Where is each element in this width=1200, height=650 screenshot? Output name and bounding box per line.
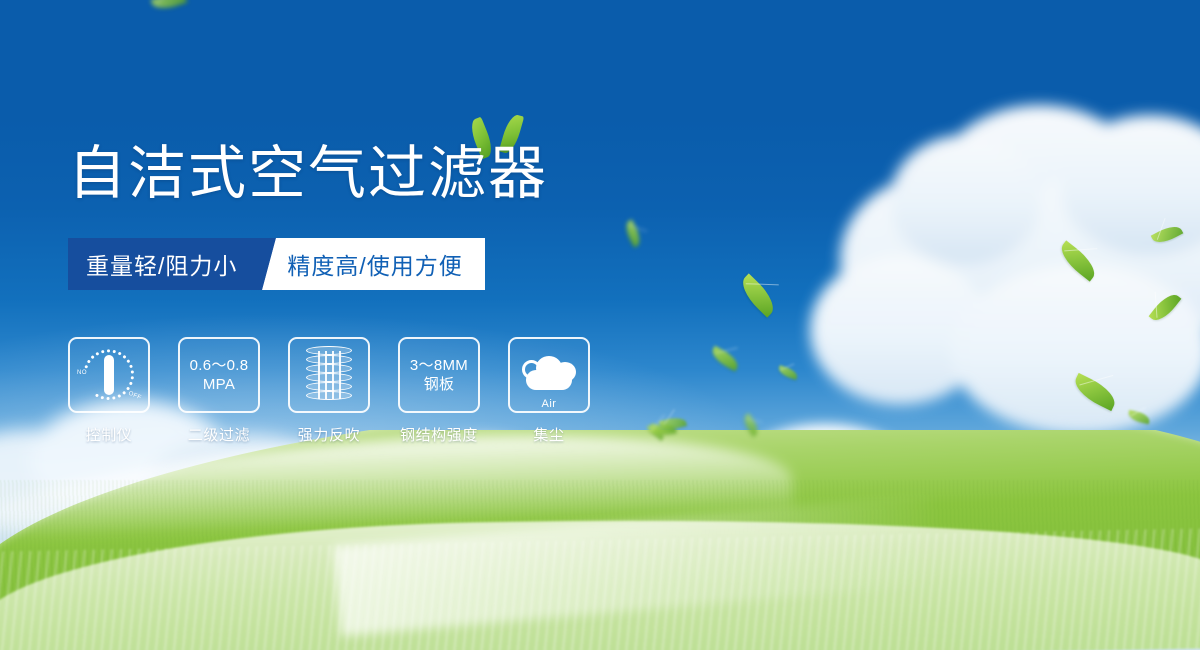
feature-icon-box: 3～8MM 钢板 [398, 337, 480, 413]
feature-label: 控制仪 [86, 424, 133, 445]
feature-item-blowback[interactable]: 强力反吹 [288, 337, 370, 445]
feature-icon-box [288, 337, 370, 413]
feature-item-control[interactable]: NO OFF 控制仪 [68, 337, 150, 445]
cumulus-cloud-right [810, 105, 1200, 435]
subtitle-bar: 重量轻/阻力小 精度高/使用方便 [68, 238, 485, 290]
subtitle-segment-dark: 重量轻/阻力小 [68, 238, 259, 290]
feature-list: NO OFF 控制仪 0.6～0.8 MPA 二级过滤 [68, 337, 590, 445]
page-title: 自洁式空气过滤器 [68, 140, 548, 208]
feature-icon-box: 0.6～0.8 MPA [178, 337, 260, 413]
dial-label-no: NO [77, 370, 87, 376]
grass-field [0, 430, 1200, 650]
hero-banner: 自洁式空气过滤器 重量轻/阻力小 精度高/使用方便 [0, 0, 1200, 650]
feature-item-dust[interactable]: Air 集尘 [508, 337, 590, 445]
feature-label: 集尘 [533, 424, 564, 445]
feature-icon-box: NO OFF [68, 337, 150, 413]
feature-item-steel[interactable]: 3～8MM 钢板 钢结构强度 [398, 337, 480, 445]
feature-label: 强力反吹 [298, 424, 360, 445]
pressure-value-line1: 0.6～0.8 [190, 356, 249, 375]
pressure-value-line2: MPA [203, 375, 235, 394]
subtitle-separator [259, 238, 285, 290]
steel-value-line1: 3～8MM [410, 356, 468, 375]
feature-icon-box: Air [508, 337, 590, 413]
cloud-air-icon: Air [520, 352, 578, 398]
filter-cartridge-icon [306, 346, 352, 404]
feature-label: 二级过滤 [188, 424, 250, 445]
subtitle-segment-light: 精度高/使用方便 [285, 238, 484, 290]
control-dial-icon: NO OFF [78, 346, 140, 404]
feature-label: 钢结构强度 [400, 424, 478, 445]
leaf-accent-icon [508, 337, 531, 344]
dial-label-off: OFF [127, 391, 142, 402]
steel-value-line2: 钢板 [424, 375, 455, 394]
air-label: Air [520, 398, 578, 410]
feature-item-pressure[interactable]: 0.6～0.8 MPA 二级过滤 [178, 337, 260, 445]
